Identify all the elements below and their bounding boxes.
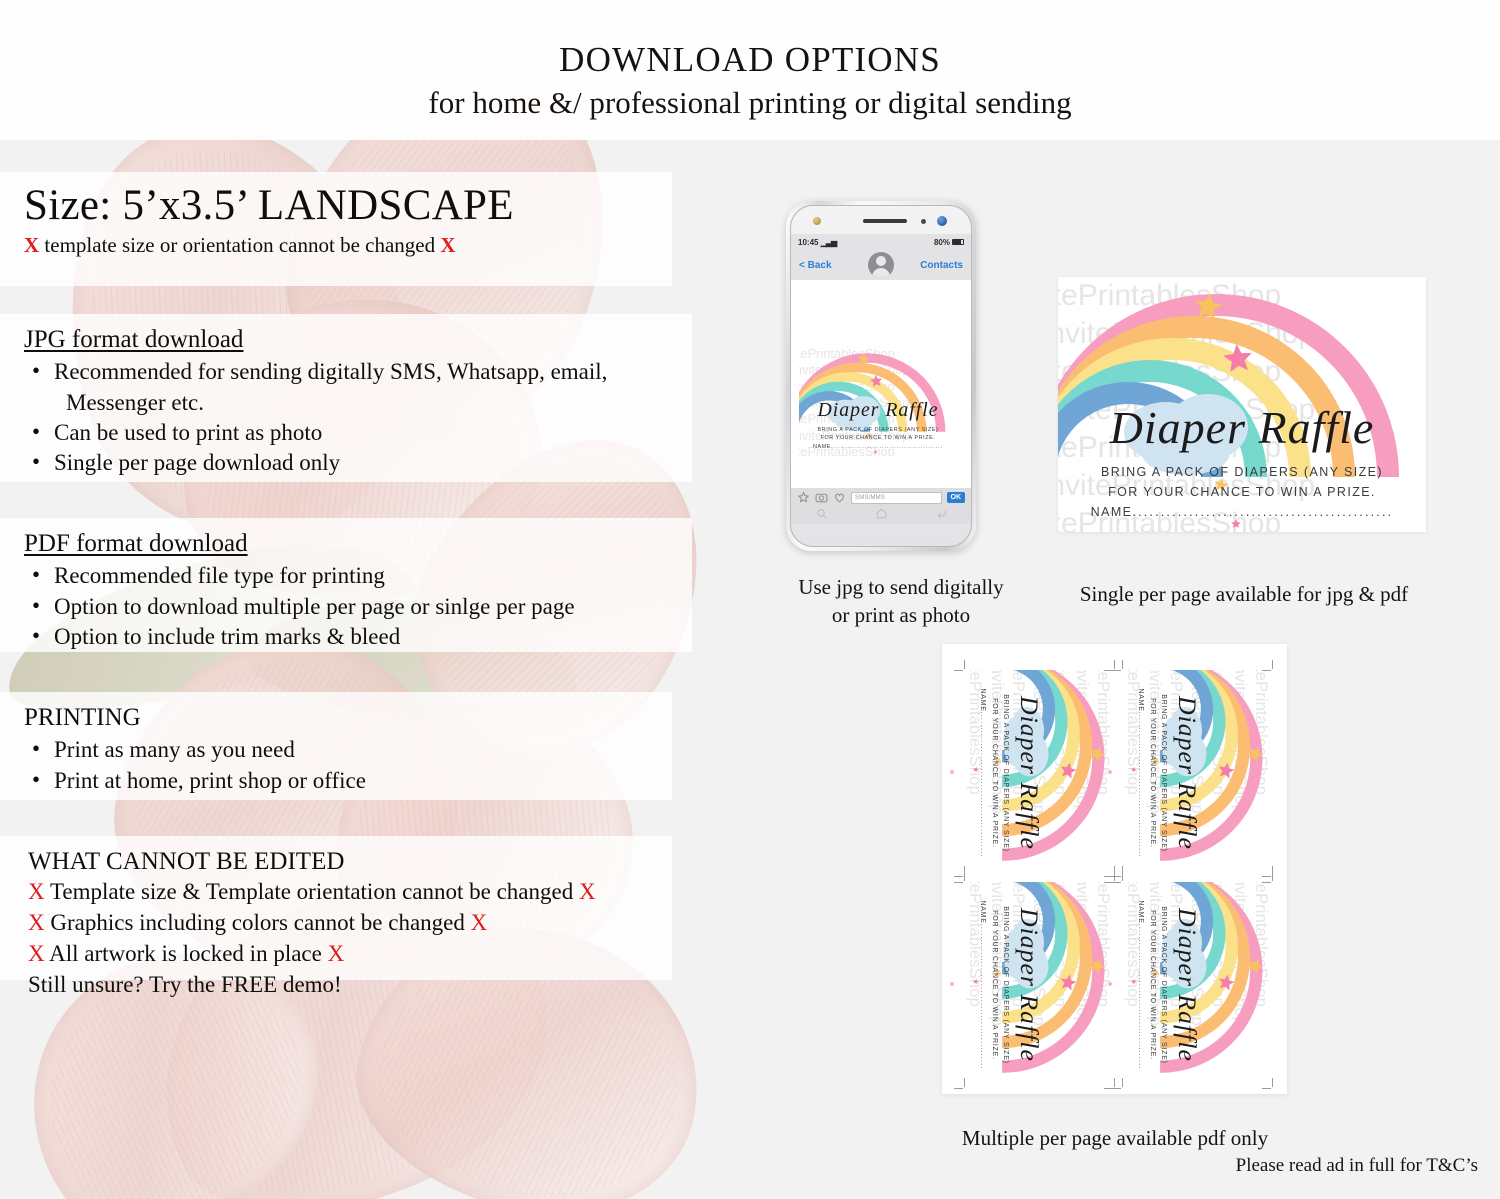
card-title: Diaper Raffle [1175,670,1201,876]
multiple-caption: Multiple per page available pdf only [900,1124,1330,1152]
x-mark-icon: X [471,910,488,935]
sheet-card-4: InvitePrintablesShopInvitePrintablesShop… [1122,882,1272,1088]
printing-bullet-list: Print as many as you need Print at home,… [24,735,672,796]
registration-mark [1108,770,1112,774]
size-title: Size: 5’x3.5’ LANDSCAPE [24,182,672,229]
battery-percent: 80% [934,238,950,247]
back-arrow-icon[interactable] [935,507,948,520]
card-line-1: BRING A PACK OF DIAPERS (ANY SIZE) [1160,882,1167,1088]
crop-mark [1262,1088,1271,1089]
list-item: Single per page download only [24,448,692,478]
x-mark-icon: X [28,941,45,966]
x-mark-icon: X [24,233,39,257]
card-name-field: NAME....................................… [1058,505,1426,519]
crop-mark [1272,1078,1273,1087]
multi-page-sheet-preview: InvitePrintablesShopInvitePrintablesShop… [942,644,1287,1094]
list-item: Recommended file type for printing [24,561,692,591]
card-title: Diaper Raffle [799,401,957,421]
size-note: X template size or orientation cannot be… [24,233,672,258]
camera-lens-icon [937,216,947,226]
crop-mark [954,882,963,883]
card-title: Diaper Raffle [1017,670,1043,876]
crop-mark [1112,882,1121,883]
single-card-caption: Single per page available for jpg & pdf [1044,580,1444,608]
registration-mark [950,982,954,986]
sms-input[interactable]: SMS/MMS [851,492,942,504]
cannot-edit-heading: WHAT CANNOT BE EDITED [28,846,672,877]
crop-mark [964,660,965,669]
crop-mark [1122,872,1123,881]
list-item: Can be used to print as photo [24,418,692,448]
card-title: Diaper Raffle [1017,882,1043,1088]
camera-icon[interactable] [815,491,828,504]
cannot-edit-line: X Graphics including colors cannot be ch… [28,908,672,939]
card-line-2: FOR YOUR CHANCE TO WIN A PRIZE. [1149,882,1156,1088]
x-mark-icon: X [328,941,345,966]
pdf-heading: PDF format download [24,528,692,559]
list-item: Messenger etc. [24,388,692,418]
x-mark-icon: X [28,910,45,935]
page-title: DOWNLOAD OPTIONS [0,40,1500,80]
search-icon[interactable] [815,507,828,520]
size-note-text: template size or orientation cannot be c… [44,233,435,257]
phone-caption: Use jpg to send digitally or print as ph… [786,573,1016,630]
card-line-1: BRING A PACK OF DIAPERS (ANY SIZE) [799,427,957,433]
ok-button[interactable]: OK [947,492,966,503]
pdf-panel: PDF format download Recommended file typ… [0,518,692,652]
crop-mark [1114,872,1115,881]
phone-nav-bar: < Back Contacts [791,250,971,280]
card-line-2: FOR YOUR CHANCE TO WIN A PRIZE. [1058,485,1426,499]
size-panel: Size: 5’x3.5’ LANDSCAPE X template size … [0,172,672,286]
card-line-1: BRING A PACK OF DIAPERS (ANY SIZE) [1160,670,1167,876]
registration-mark [950,770,954,774]
crop-mark [1114,660,1115,669]
crop-mark [1272,660,1273,669]
list-item: Option to include trim marks & bleed [24,622,692,652]
raffle-card-rotated: InvitePrintablesShopInvitePrintablesShop… [964,882,1114,1088]
card-line-2: FOR YOUR CHANCE TO WIN A PRIZE. [991,670,998,876]
earpiece-speaker [863,219,907,223]
card-line-2: FOR YOUR CHANCE TO WIN A PRIZE. [991,882,998,1088]
crop-mark [964,872,965,881]
page-header: DOWNLOAD OPTIONS for home &/ professiona… [0,0,1500,140]
list-item: Print at home, print shop or office [24,766,672,796]
sheet-card-1: InvitePrintablesShopInvitePrintablesShop… [964,670,1114,876]
phone-keyboard-bar: SMS/MMS OK [791,488,971,524]
crop-mark [1272,872,1273,881]
phone-caption-line2: or print as photo [786,601,1016,629]
card-title: Diaper Raffle [1058,405,1426,451]
phone-mockup: 10:45 ▁▃▅ 80% < Back Contacts InvitePrin… [786,201,976,551]
battery-icon [952,239,964,245]
cannot-edit-text: Graphics including colors cannot be chan… [50,910,465,935]
card-line-1: BRING A PACK OF DIAPERS (ANY SIZE) [1002,670,1009,876]
card-line-2: FOR YOUR CHANCE TO WIN A PRIZE. [1149,670,1156,876]
x-mark-icon: X [440,233,455,257]
printing-panel: PRINTING Print as many as you need Print… [0,692,672,800]
crop-mark [954,1088,963,1089]
crop-mark [1112,1088,1121,1089]
cannot-edit-text: Template size & Template orientation can… [50,879,573,904]
home-icon[interactable] [875,507,888,520]
single-card-preview: InvitePrintablesShopInvitePrintablesShop… [1058,277,1426,532]
card-name-field: NAME....................................… [799,444,957,450]
card-name-field: NAME....................................… [1137,882,1144,1088]
crop-mark [1114,1078,1115,1087]
sheet-card-3: InvitePrintablesShopInvitePrintablesShop… [964,882,1114,1088]
status-time: 10:45 [798,238,818,247]
jpg-bullet-list: Recommended for sending digitally SMS, W… [24,357,692,478]
x-mark-icon: X [28,879,45,904]
printing-heading: PRINTING [24,702,672,733]
raffle-card-rotated: InvitePrintablesShopInvitePrintablesShop… [1122,882,1272,1088]
card-name-field: NAME....................................… [979,670,986,876]
jpg-panel: JPG format download Recommended for send… [0,314,692,482]
pdf-bullet-list: Recommended file type for printing Optio… [24,561,692,652]
crop-mark [1122,1078,1123,1087]
back-button[interactable]: < Back [799,260,832,271]
card-line-1: BRING A PACK OF DIAPERS (ANY SIZE) [1058,465,1426,479]
signal-icon: ▁▃▅ [821,238,836,247]
proximity-sensor-icon [921,219,926,224]
crop-mark [1262,876,1271,877]
avatar [868,252,894,278]
list-item: Print as many as you need [24,735,672,765]
jpg-heading: JPG format download [24,324,692,355]
free-demo-text: Still unsure? Try the FREE demo! [28,970,672,1001]
page-subtitle: for home &/ professional printing or dig… [0,83,1500,123]
raffle-card-rotated: InvitePrintablesShopInvitePrintablesShop… [1122,670,1272,876]
phone-top-bezel [791,206,971,234]
crop-mark [1262,670,1271,671]
raffle-card-rotated: InvitePrintablesShopInvitePrintablesShop… [964,670,1114,876]
terms-note: Please read ad in full for T&C’s [1236,1155,1478,1177]
heart-icon[interactable] [833,491,846,504]
registration-mark [1108,982,1112,986]
crop-mark [954,876,963,877]
cannot-edit-panel: WHAT CANNOT BE EDITED X Template size & … [0,836,672,980]
list-item: Recommended for sending digitally SMS, W… [24,357,692,387]
list-item: Option to download multiple per page or … [24,592,692,622]
cannot-edit-text: All artwork is locked in place [49,941,322,966]
front-camera-icon [813,217,821,225]
cannot-edit-line: X Template size & Template orientation c… [28,877,672,908]
star-icon[interactable] [797,491,810,504]
crop-mark [1262,882,1271,883]
phone-status-bar: 10:45 ▁▃▅ 80% [791,234,971,250]
crop-mark [1112,670,1121,671]
phone-caption-line1: Use jpg to send digitally [786,573,1016,601]
x-mark-icon: X [579,879,596,904]
card-title: Diaper Raffle [1175,882,1201,1088]
phone-screen: InvitePrintablesShopInvitePrintablesShop… [791,280,971,488]
crop-mark [964,1078,965,1087]
crop-mark [954,670,963,671]
card-line-2: FOR YOUR CHANCE TO WIN A PRIZE. [799,435,957,441]
cannot-edit-line: X All artwork is locked in place X [28,939,672,970]
sheet-card-2: InvitePrintablesShopInvitePrintablesShop… [1122,670,1272,876]
raffle-card-preview: InvitePrintablesShopInvitePrintablesShop… [799,346,957,456]
card-name-field: NAME....................................… [979,882,986,1088]
contacts-button[interactable]: Contacts [920,260,963,271]
card-name-field: NAME....................................… [1137,670,1144,876]
crop-mark [1122,660,1123,669]
card-line-1: BRING A PACK OF DIAPERS (ANY SIZE) [1002,882,1009,1088]
